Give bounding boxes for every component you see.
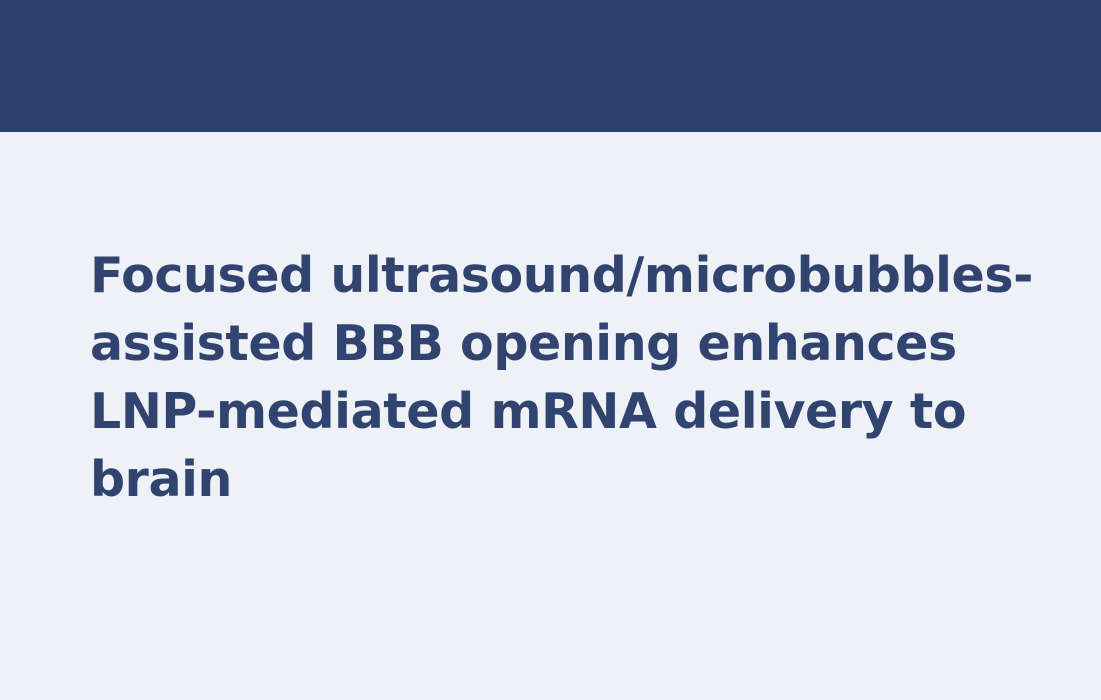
page-title: Focused ultrasound/microbubbles-assisted… (90, 242, 1050, 514)
title-block: Focused ultrasound/microbubbles-assisted… (90, 242, 1050, 514)
header-band (0, 0, 1101, 132)
content-area: Focused ultrasound/microbubbles-assisted… (0, 132, 1101, 700)
title-card: Focused ultrasound/microbubbles-assisted… (0, 0, 1101, 700)
